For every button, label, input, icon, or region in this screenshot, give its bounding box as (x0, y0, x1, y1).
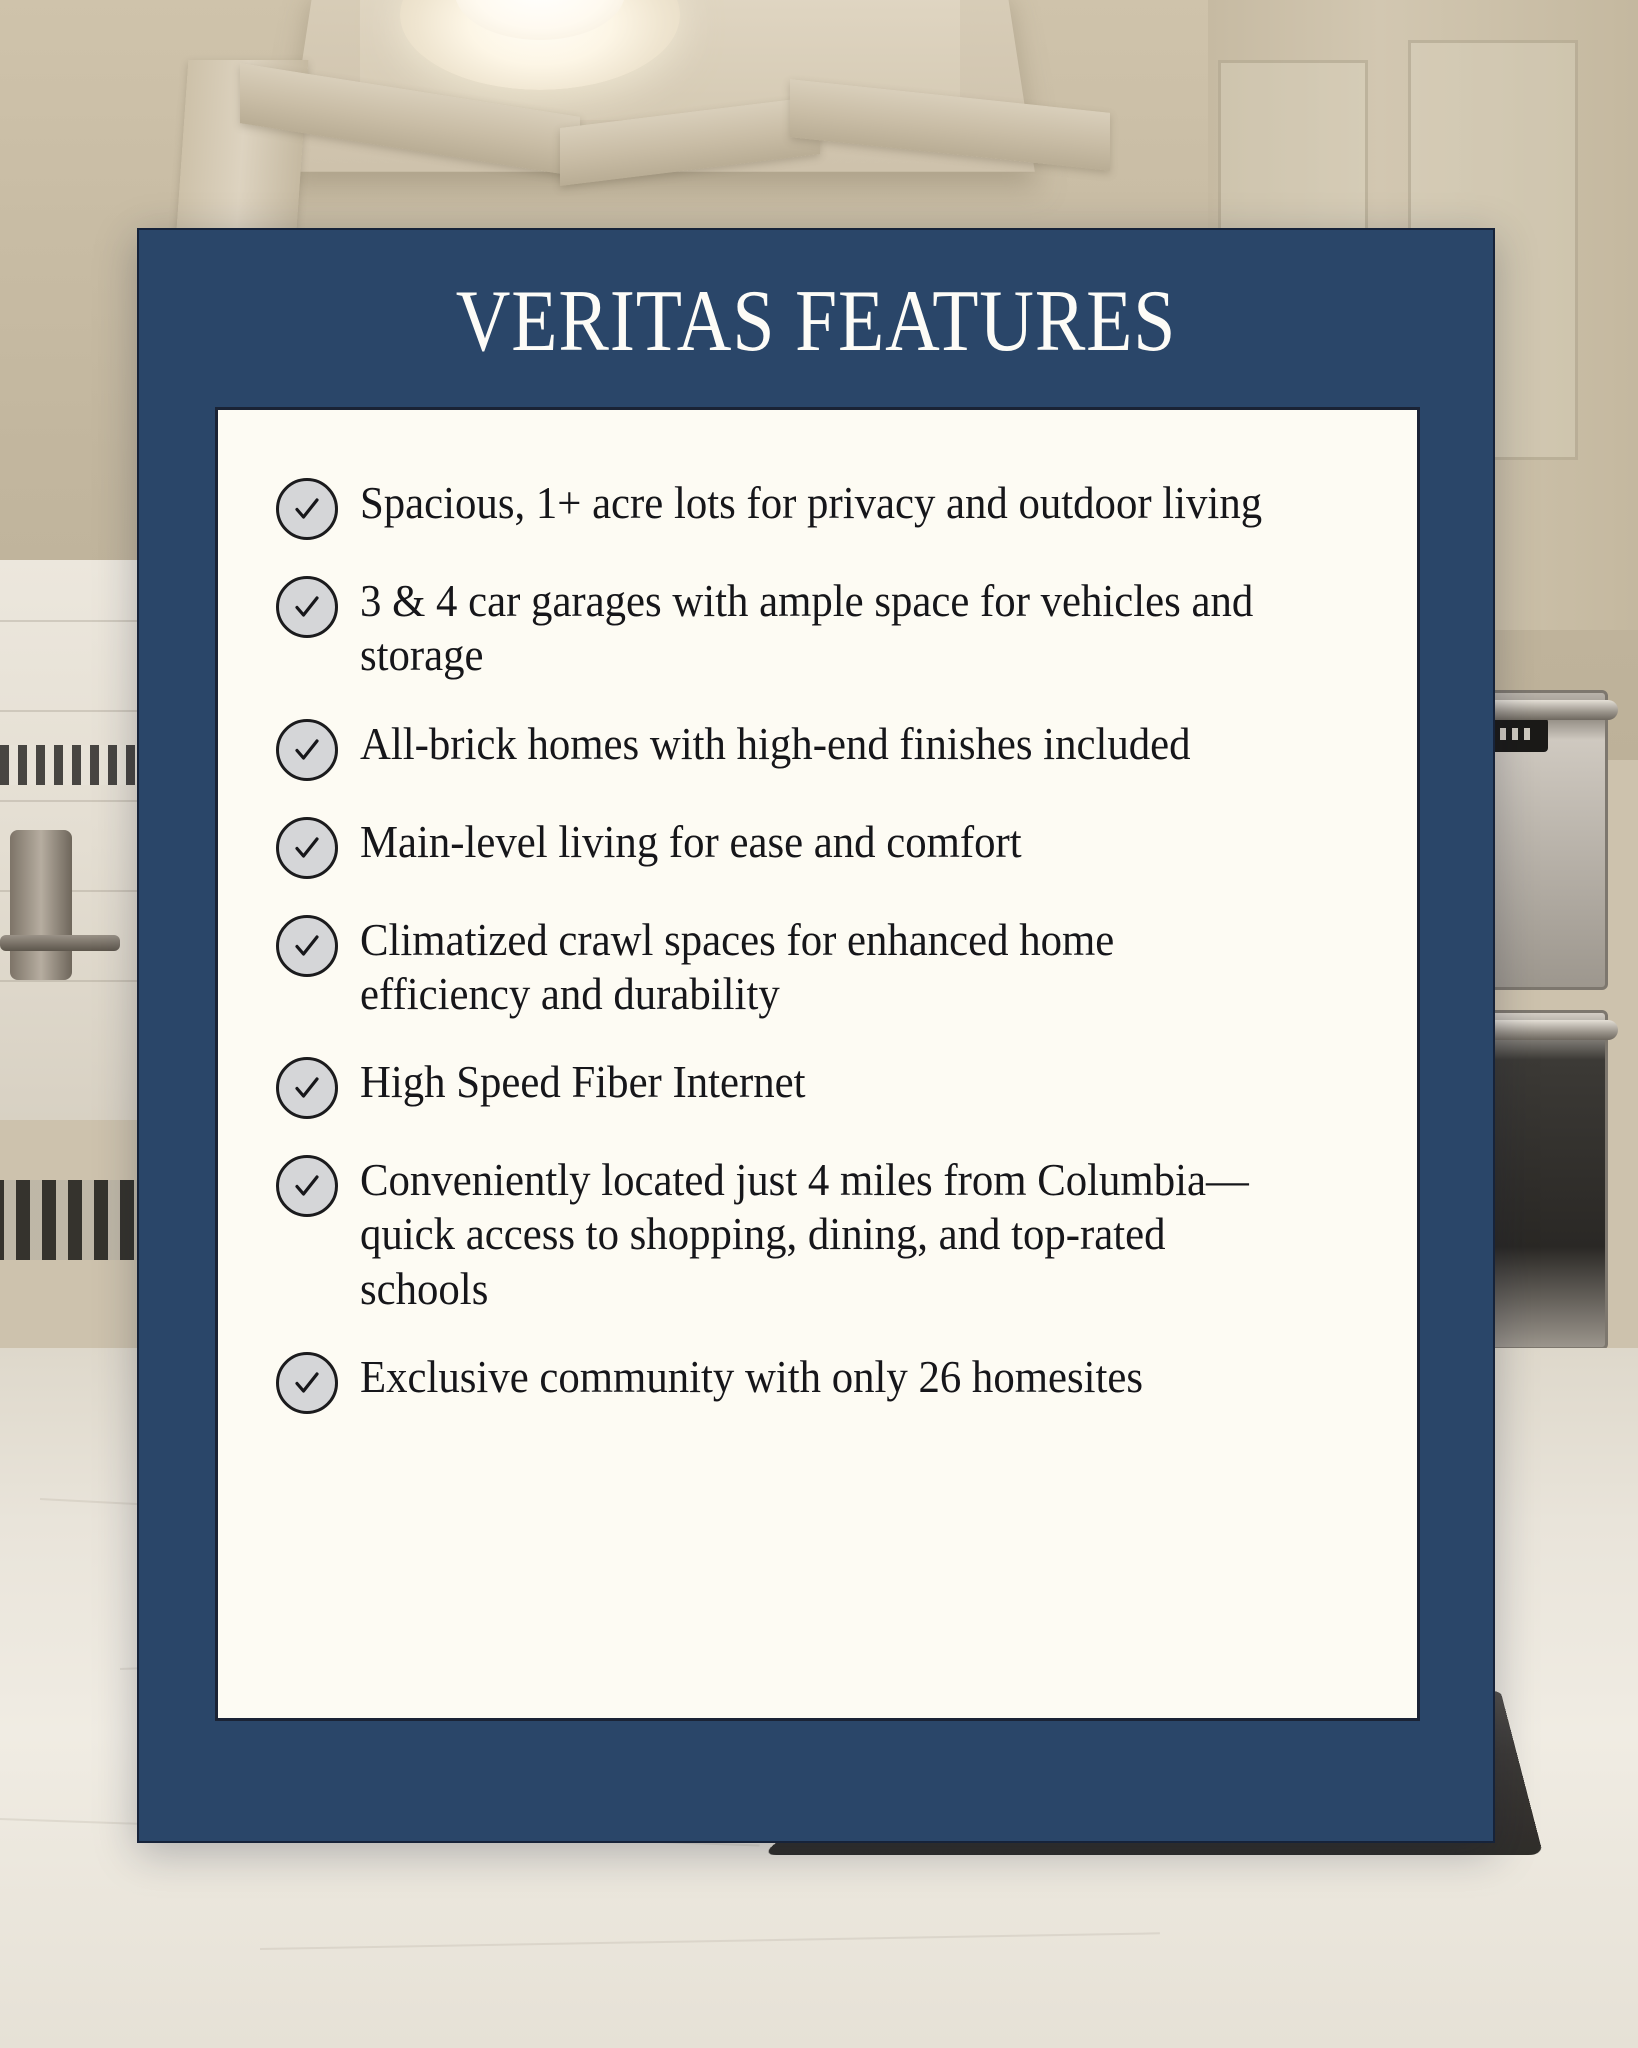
pot-filler-arm (0, 935, 120, 951)
list-item: Conveniently located just 4 miles from C… (276, 1153, 1359, 1316)
check-circle-icon (276, 719, 338, 781)
list-item-label: Main-level living for ease and comfort (360, 815, 1022, 869)
list-item: Main-level living for ease and comfort (276, 815, 1359, 879)
list-item: 3 & 4 car garages with ample space for v… (276, 574, 1359, 683)
features-panel: Spacious, 1+ acre lots for privacy and o… (215, 407, 1420, 1721)
list-item-label: 3 & 4 car garages with ample space for v… (360, 574, 1289, 683)
page-title: VERITAS FEATURES (234, 230, 1398, 366)
check-circle-icon (276, 478, 338, 540)
list-item-label: Spacious, 1+ acre lots for privacy and o… (360, 476, 1262, 530)
check-circle-icon (276, 817, 338, 879)
check-circle-icon (276, 576, 338, 638)
check-circle-icon (276, 1352, 338, 1414)
check-circle-icon (276, 1057, 338, 1119)
list-item: All-brick homes with high-end finishes i… (276, 717, 1359, 781)
list-item-label: Climatized crawl spaces for enhanced hom… (360, 913, 1289, 1022)
features-list: Spacious, 1+ acre lots for privacy and o… (276, 476, 1359, 1448)
check-circle-icon (276, 915, 338, 977)
cooktop (0, 1180, 150, 1260)
list-item: Spacious, 1+ acre lots for privacy and o… (276, 476, 1359, 540)
list-item-label: All-brick homes with high-end finishes i… (360, 717, 1191, 771)
list-item: Climatized crawl spaces for enhanced hom… (276, 913, 1359, 1022)
list-item: High Speed Fiber Internet (276, 1055, 1359, 1119)
list-item-label: High Speed Fiber Internet (360, 1055, 806, 1109)
list-item-label: Exclusive community with only 26 homesit… (360, 1350, 1143, 1404)
check-circle-icon (276, 1155, 338, 1217)
features-card: VERITAS FEATURES Spacious, 1+ acre lots … (137, 228, 1495, 1843)
pot-filler-faucet (10, 830, 72, 980)
range-hood-detail (0, 745, 160, 785)
list-item-label: Conveniently located just 4 miles from C… (360, 1153, 1289, 1316)
list-item: Exclusive community with only 26 homesit… (276, 1350, 1359, 1414)
